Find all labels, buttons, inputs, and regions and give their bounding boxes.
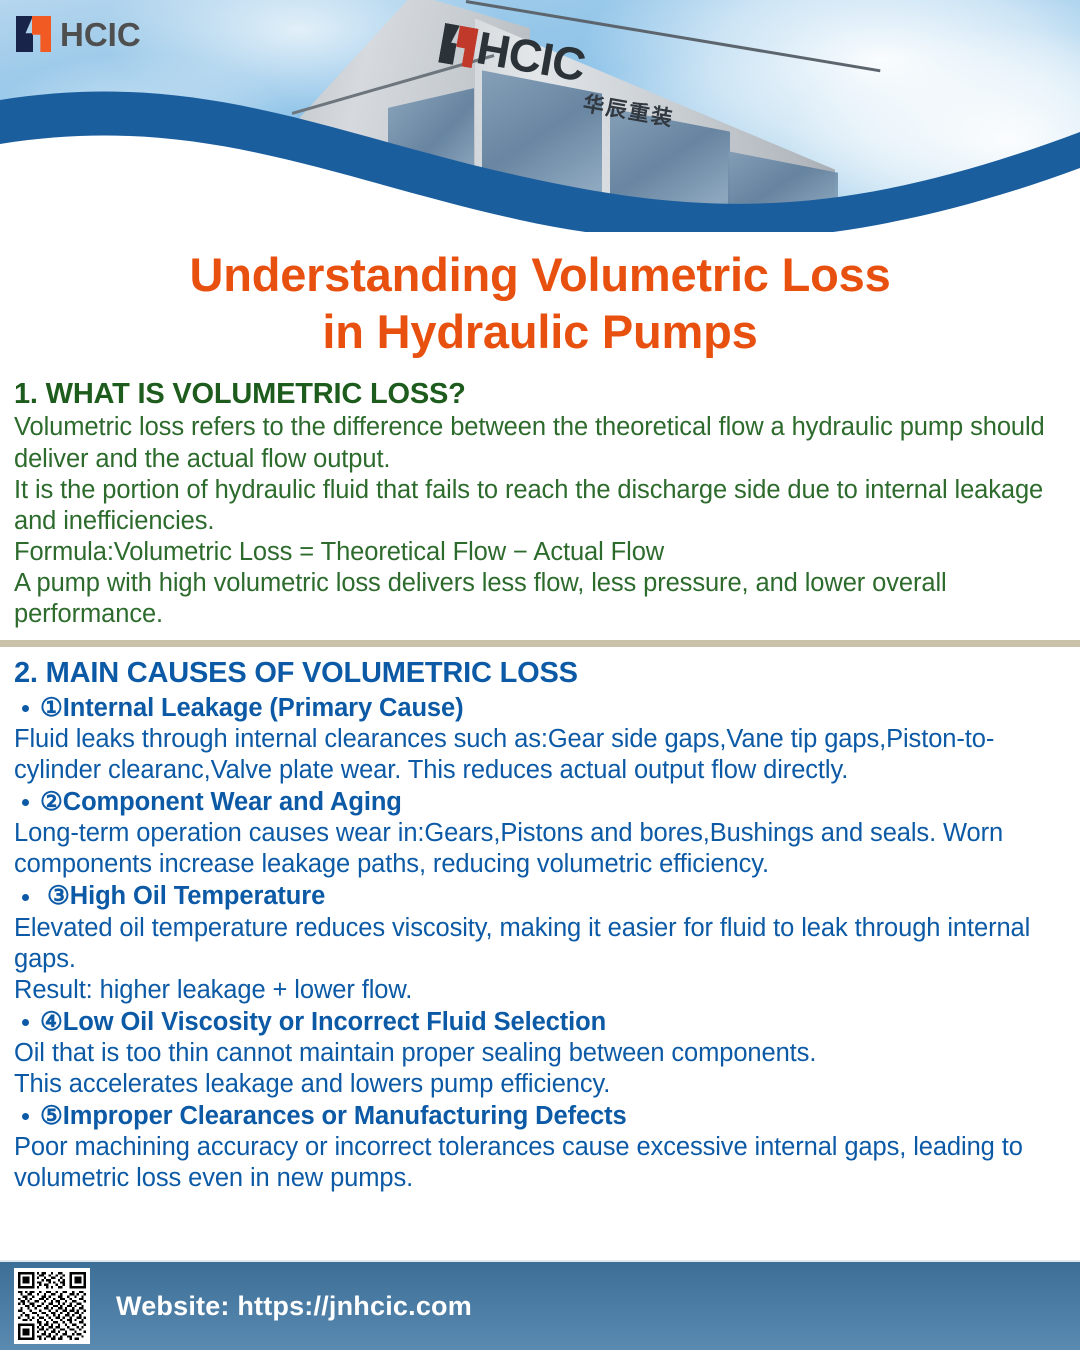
list-item: ⑤Improper Clearances or Manufacturing De… xyxy=(14,1100,1066,1194)
section2-heading: 2. MAIN CAUSES OF VOLUMETRIC LOSS xyxy=(14,657,1066,689)
wave-divider xyxy=(0,72,1080,232)
section1-heading: 1. WHAT IS VOLUMETRIC LOSS? xyxy=(14,378,1066,410)
footer-bar: Website: https://jnhcic.com xyxy=(0,1260,1080,1350)
section1-paragraph: Formula:Volumetric Loss = Theoretical Fl… xyxy=(14,537,1066,568)
list-item: ②Component Wear and Aging Long-term oper… xyxy=(14,786,1066,880)
cause-title-2: ②Component Wear and Aging xyxy=(14,786,1066,818)
article-content: 1. WHAT IS VOLUMETRIC LOSS? Volumetric l… xyxy=(0,378,1080,1195)
cause-marker: ② xyxy=(40,788,63,816)
list-item: ①Internal Leakage (Primary Cause) Fluid … xyxy=(14,692,1066,786)
cause-title-text: High Oil Temperature xyxy=(70,882,325,910)
bullet-dot-icon xyxy=(22,894,29,901)
section1-paragraph: It is the portion of hydraulic fluid tha… xyxy=(14,475,1066,537)
cause-body-1: Fluid leaks through internal clearances … xyxy=(14,724,1066,786)
section1-paragraph: A pump with high volumetric loss deliver… xyxy=(14,568,1066,630)
section-main-causes: 2. MAIN CAUSES OF VOLUMETRIC LOSS ①Inter… xyxy=(0,657,1080,1194)
hcic-logo-text: HCIC xyxy=(60,18,141,51)
cause-title-text: Improper Clearances or Manufacturing Def… xyxy=(63,1102,627,1130)
cause-body-5: Poor machining accuracy or incorrect tol… xyxy=(14,1132,1066,1194)
hcic-logo-mark-icon xyxy=(16,16,51,52)
bullet-dot-icon xyxy=(22,1113,29,1120)
website-label[interactable]: Website: https://jnhcic.com xyxy=(116,1291,472,1322)
cause-body-4: Oil that is too thin cannot maintain pro… xyxy=(14,1038,1066,1100)
cause-body-2: Long-term operation causes wear in:Gears… xyxy=(14,818,1066,880)
cause-title-text: Internal Leakage (Primary Cause) xyxy=(63,694,464,722)
cause-marker: ① xyxy=(40,694,63,722)
cause-body-3: Elevated oil temperature reduces viscosi… xyxy=(14,913,1066,1006)
building-logo-mark-icon xyxy=(438,23,478,68)
causes-list: ①Internal Leakage (Primary Cause) Fluid … xyxy=(14,692,1066,1195)
cause-title-3: ③High Oil Temperature xyxy=(14,880,1066,912)
list-item: ④Low Oil Viscosity or Incorrect Fluid Se… xyxy=(14,1006,1066,1100)
section-divider xyxy=(0,640,1080,647)
cause-title-4: ④Low Oil Viscosity or Incorrect Fluid Se… xyxy=(14,1006,1066,1038)
list-item: ③High Oil Temperature Elevated oil tempe… xyxy=(14,880,1066,1005)
bullet-dot-icon xyxy=(22,705,29,712)
cause-marker: ③ xyxy=(47,882,70,910)
cause-title-text: Low Oil Viscosity or Incorrect Fluid Sel… xyxy=(63,1008,606,1036)
bullet-dot-icon xyxy=(22,1019,29,1026)
qr-code-icon[interactable] xyxy=(14,1268,90,1344)
cause-marker: ④ xyxy=(40,1008,63,1036)
cause-title-text: Component Wear and Aging xyxy=(63,788,402,816)
page-title: Understanding Volumetric Loss in Hydraul… xyxy=(0,246,1080,361)
page-title-line1: Understanding Volumetric Loss xyxy=(189,248,890,301)
cause-title-1: ①Internal Leakage (Primary Cause) xyxy=(14,692,1066,724)
hcic-logo: HCIC xyxy=(16,16,141,52)
section1-paragraph: Volumetric loss refers to the difference… xyxy=(14,412,1066,474)
bullet-dot-icon xyxy=(22,799,29,806)
cause-title-5: ⑤Improper Clearances or Manufacturing De… xyxy=(14,1100,1066,1132)
page-title-line2: in Hydraulic Pumps xyxy=(0,303,1080,360)
section-what-is-volumetric-loss: 1. WHAT IS VOLUMETRIC LOSS? Volumetric l… xyxy=(0,378,1080,630)
cause-marker: ⑤ xyxy=(40,1102,63,1130)
hero-banner: HCIC 华辰重装 HCIC xyxy=(0,0,1080,232)
